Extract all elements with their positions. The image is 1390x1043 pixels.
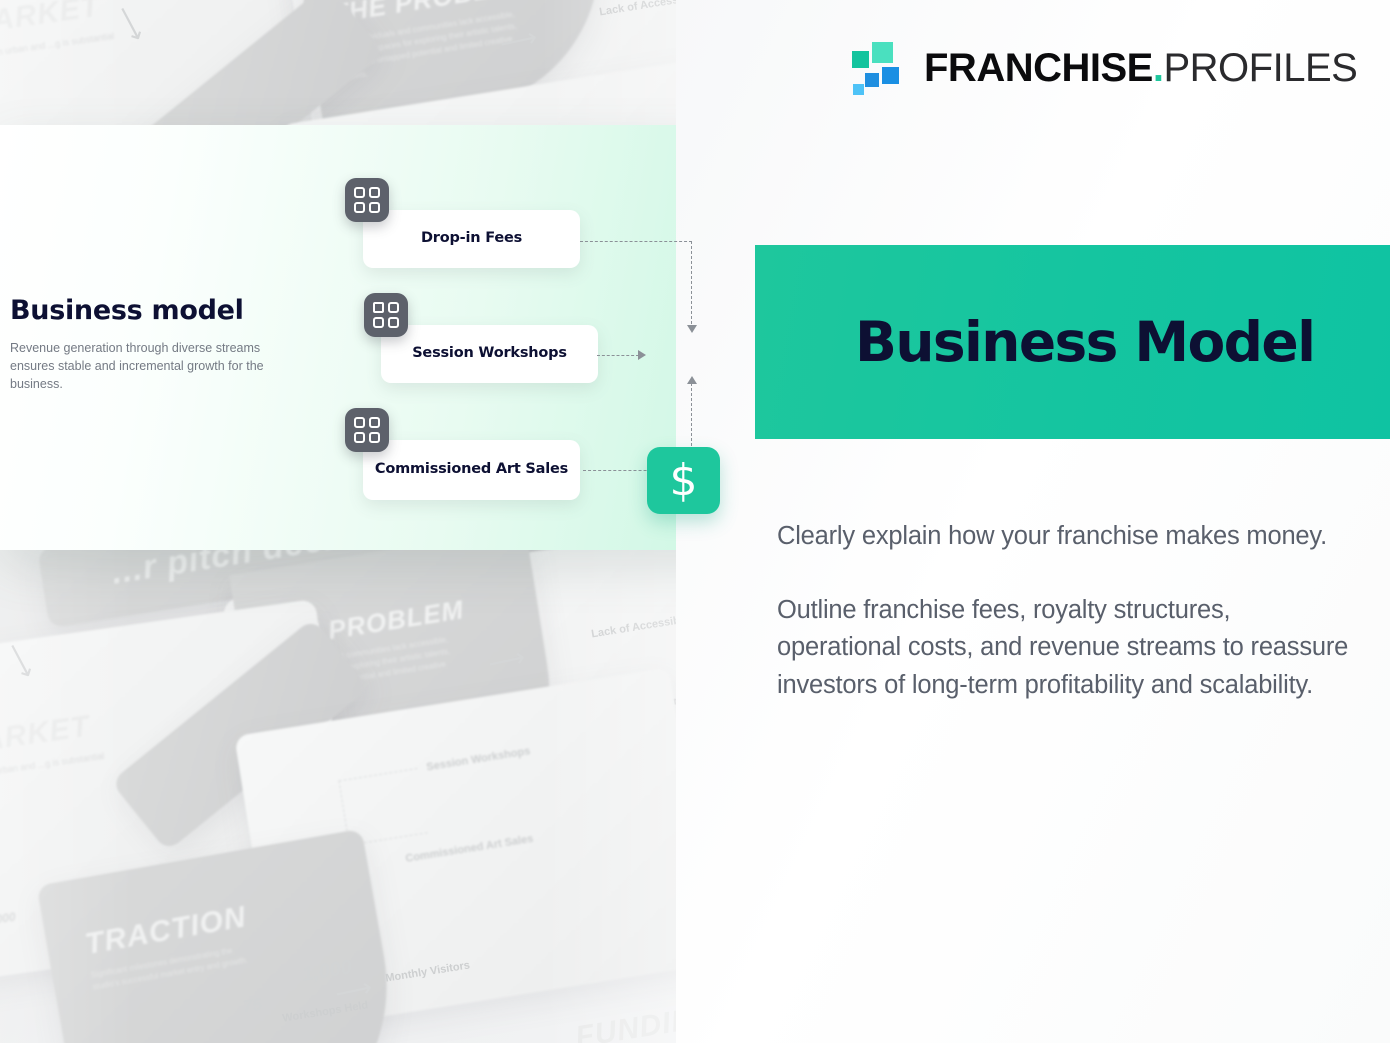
brand-wordmark: FRANCHISE.PROFILES <box>924 48 1357 88</box>
card-text-block: Business model Revenue generation throug… <box>10 295 310 393</box>
revenue-node-label: Commissioned Art Sales <box>375 461 568 478</box>
brand-name-light: PROFILES <box>1163 46 1357 90</box>
brand-name-dot: . <box>1153 46 1164 90</box>
grid-dashboard-icon-1 <box>345 178 389 222</box>
right-content-pane: FRANCHISE.PROFILES Business Model Clearl… <box>676 0 1390 1043</box>
connector-middle <box>597 355 639 356</box>
logo-square-teal <box>852 51 869 68</box>
business-model-slide-card: Business model Revenue generation throug… <box>0 125 747 550</box>
connector-bottom-arrowhead <box>687 376 697 384</box>
franchise-profiles-squares-logo-icon <box>852 40 908 96</box>
body-paragraph-1: Clearly explain how your franchise makes… <box>777 518 1349 556</box>
logo-square-mint <box>872 42 893 63</box>
logo-square-blue-small <box>865 73 879 87</box>
grid-cell <box>388 302 399 313</box>
grid-dashboard-icon-2 <box>364 293 408 337</box>
section-title-band: Business Model <box>755 245 1390 439</box>
connector-top <box>580 241 692 329</box>
revenue-node-session-workshops[interactable]: Session Workshops <box>381 325 598 383</box>
revenue-node-label: Drop-in Fees <box>421 230 522 247</box>
grid-cell <box>388 317 399 328</box>
grid-dashboard-icon-3 <box>345 408 389 452</box>
revenue-node-label: Session Workshops <box>412 345 567 362</box>
connector-top-arrowhead <box>687 325 697 333</box>
grid-cell <box>373 302 384 313</box>
page-title: Business Model <box>855 310 1314 374</box>
card-subtext: Revenue generation through diverse strea… <box>10 339 300 393</box>
grid-cell <box>369 432 380 443</box>
body-copy: Clearly explain how your franchise makes… <box>777 518 1349 705</box>
revenue-node-drop-in-fees[interactable]: Drop-in Fees <box>363 210 580 268</box>
grid-cell <box>369 417 380 428</box>
connector-middle-arrowhead <box>638 350 646 360</box>
grid-cell <box>354 417 365 428</box>
grid-cell <box>354 187 365 198</box>
grid-cell <box>369 202 380 213</box>
dollar-glyph: $ <box>670 455 698 506</box>
grid-cell <box>373 317 384 328</box>
revenue-node-commissioned-art-sales[interactable]: Commissioned Art Sales <box>363 440 580 500</box>
grid-cell <box>369 187 380 198</box>
dollar-sign-icon[interactable]: $ <box>647 447 720 514</box>
grid-cell <box>354 202 365 213</box>
brand-logo[interactable]: FRANCHISE.PROFILES <box>852 40 1357 96</box>
body-paragraph-2: Outline franchise fees, royalty structur… <box>777 592 1349 705</box>
logo-square-blue <box>882 67 899 84</box>
card-heading: Business model <box>10 295 310 326</box>
logo-square-lightblue <box>853 84 864 95</box>
brand-name-bold: FRANCHISE <box>924 46 1153 90</box>
grid-cell <box>354 432 365 443</box>
